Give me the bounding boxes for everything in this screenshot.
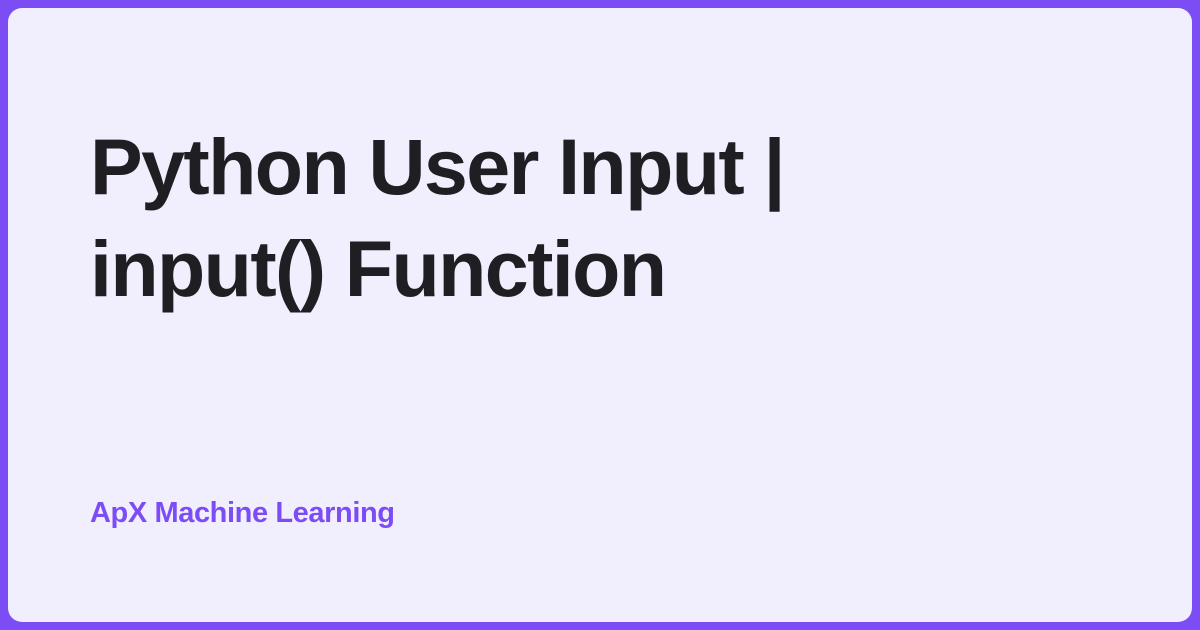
brand-name: ApX Machine Learning	[90, 496, 395, 530]
card-content: Python User Input | input() Function ApX…	[90, 8, 1132, 622]
page-title: Python User Input | input() Function	[90, 116, 880, 320]
card-inner-surface: Python User Input | input() Function ApX…	[8, 8, 1192, 622]
share-card: Python User Input | input() Function ApX…	[0, 0, 1200, 630]
